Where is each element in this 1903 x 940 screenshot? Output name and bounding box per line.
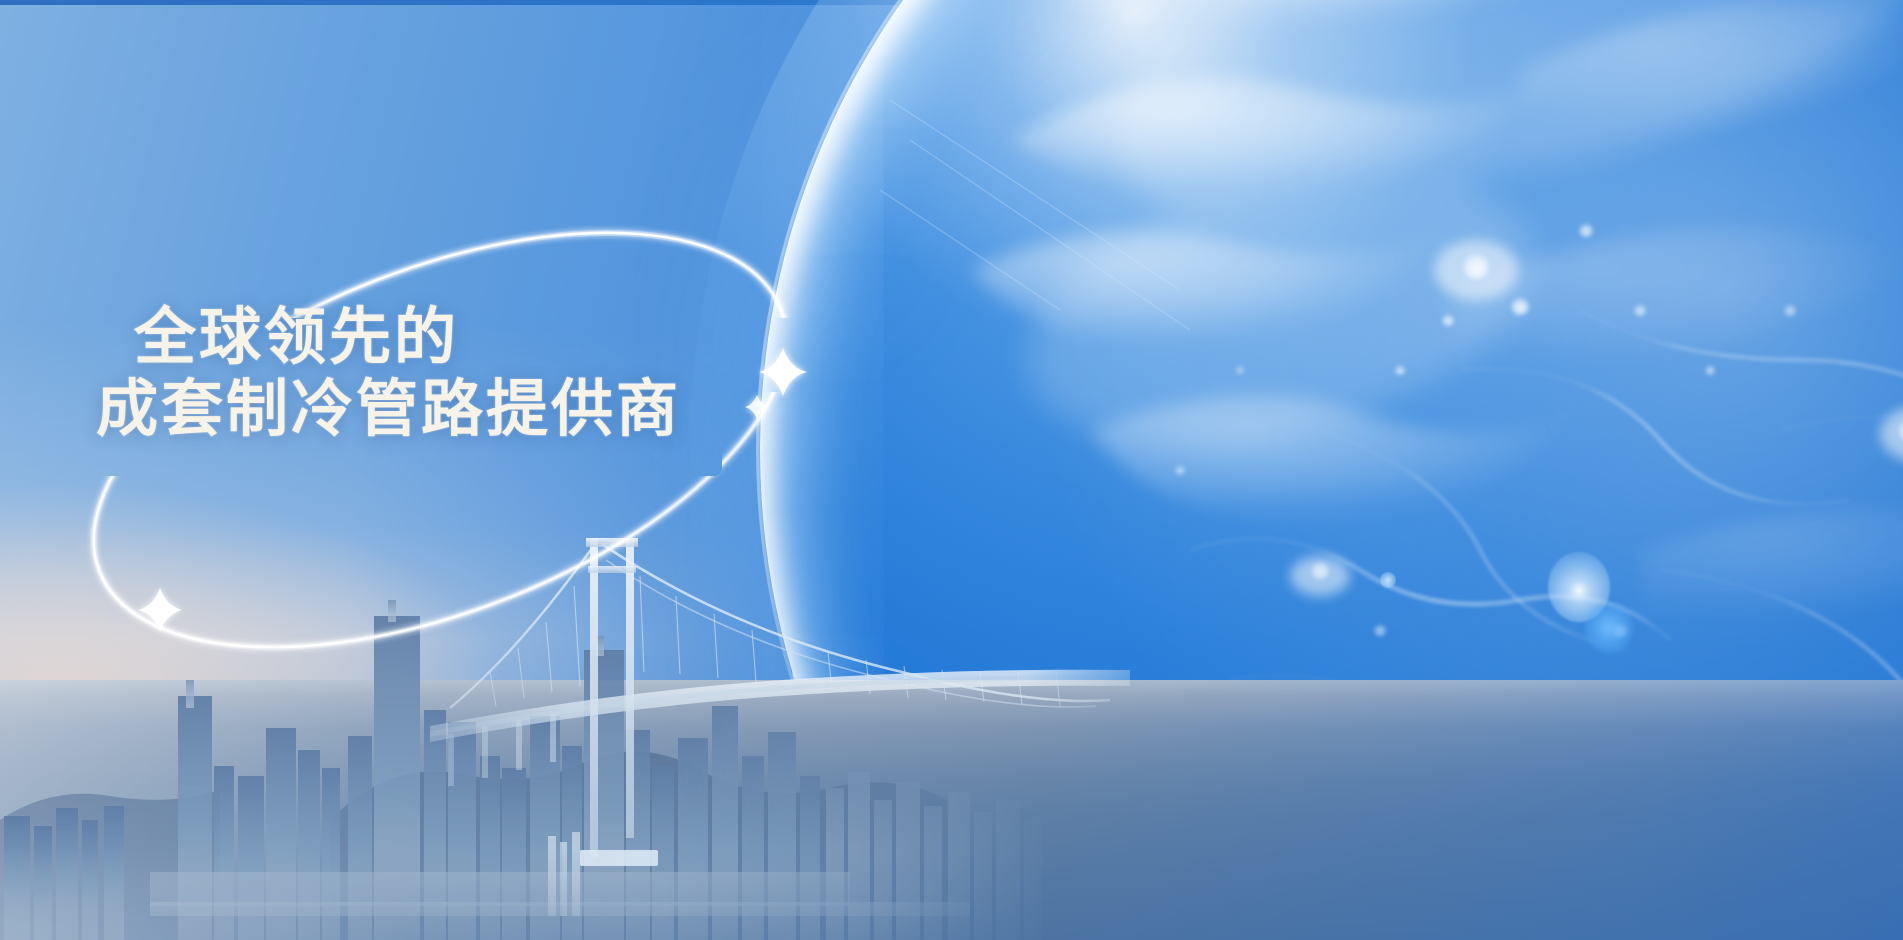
headline: 全球领先的 成套制冷管路提供商 bbox=[96, 302, 856, 446]
top-edge-band bbox=[0, 0, 1903, 5]
headline-line-2: 成套制冷管路提供商 bbox=[96, 374, 856, 446]
hero-banner: 全球领先的 成套制冷管路提供商 bbox=[0, 0, 1903, 940]
headline-line-1: 全球领先的 bbox=[96, 302, 856, 374]
suspension-bridge bbox=[430, 520, 1130, 900]
